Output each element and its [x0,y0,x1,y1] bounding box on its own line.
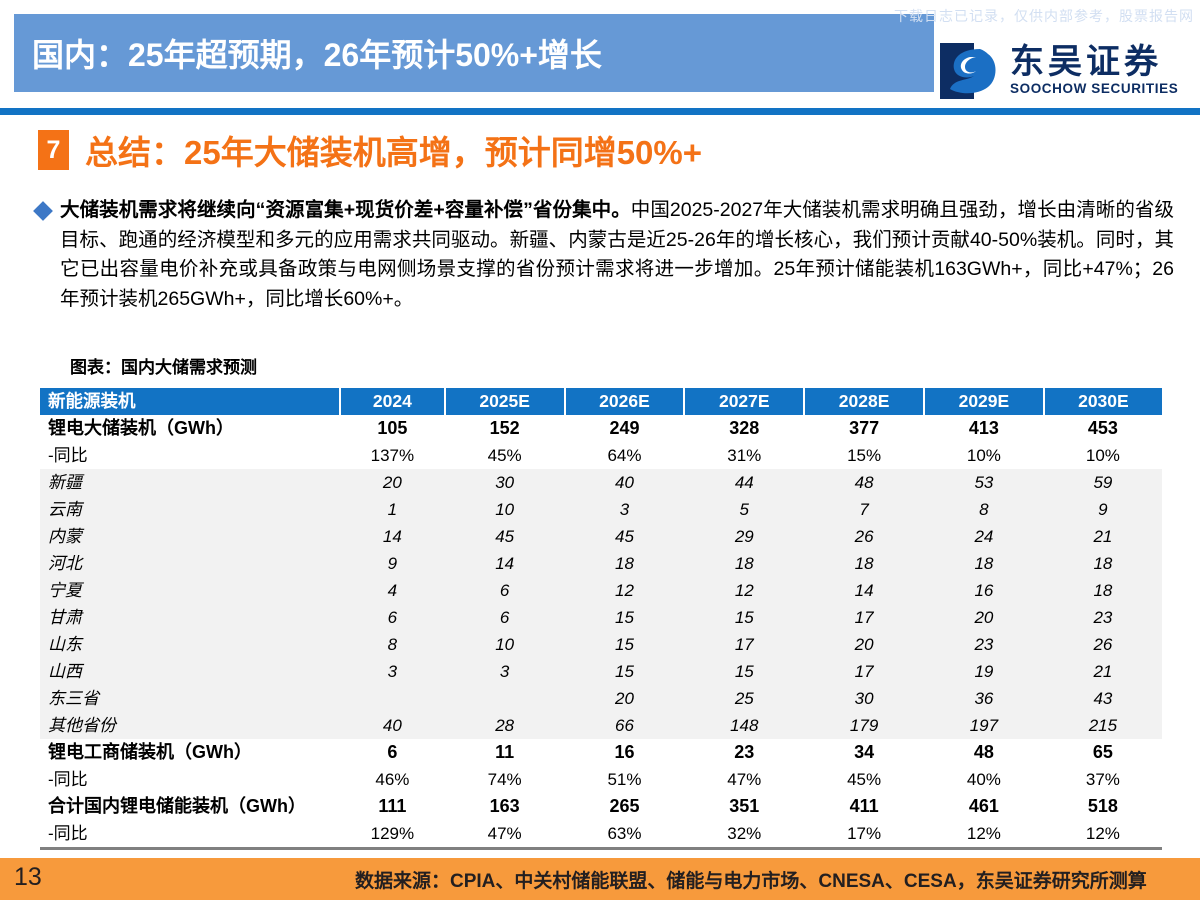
table-cell: 328 [684,415,804,442]
col-header-2030e: 2030E [1044,388,1162,415]
body-lead-sentence: 大储装机需求将继续向“资源富集+现货价差+容量补偿”省份集中。 [60,199,631,221]
table-cell: 461 [924,793,1044,820]
table-cell: 29 [684,523,804,550]
table-row: 河北9141818181818 [40,550,1162,577]
row-label: 山西 [40,658,340,685]
col-header-2026e: 2026E [565,388,685,415]
table-cell: 66 [565,712,685,739]
table-cell: 74% [445,766,565,793]
table-cell: 23 [924,631,1044,658]
table-cell: 46% [340,766,445,793]
table-row: 宁夏461212141618 [40,577,1162,604]
table-cell: 44 [684,469,804,496]
slide-header-bar: 国内：25年超预期，26年预计50%+增长 [14,14,934,92]
table-cell: 3 [340,658,445,685]
table-row: -同比137%45%64%31%15%10%10% [40,442,1162,469]
table-cell: 23 [1044,604,1162,631]
table-cell: 7 [804,496,924,523]
table-body: 锂电大储装机（GWh）105152249328377413453-同比137%4… [40,415,1162,847]
table-row: 合计国内锂电储能装机（GWh）111163265351411461518 [40,793,1162,820]
table-cell: 163 [445,793,565,820]
page-number: 13 [14,863,42,892]
body-paragraph-block: 大储装机需求将继续向“资源富集+现货价差+容量补偿”省份集中。中国2025-20… [36,196,1176,315]
table-cell: 48 [924,739,1044,766]
section-number-badge: 7 [38,130,69,170]
table-cell: 4 [340,577,445,604]
table-row: 新疆20304044485359 [40,469,1162,496]
table-cell: 47% [684,766,804,793]
company-logo: 东吴证券 SOOCHOW SECURITIES [940,38,1190,104]
table-cell: 14 [340,523,445,550]
table-cell: 21 [1044,523,1162,550]
table-cell: 152 [445,415,565,442]
table-cell: 23 [684,739,804,766]
table-cell: 111 [340,793,445,820]
row-label: 其他省份 [40,712,340,739]
table-cell: 40 [340,712,445,739]
table-cell: 12% [924,820,1044,847]
col-header-label: 新能源装机 [40,388,340,415]
table-cell: 18 [565,550,685,577]
row-label: -同比 [40,766,340,793]
row-label: 东三省 [40,685,340,712]
table-row: -同比46%74%51%47%45%40%37% [40,766,1162,793]
col-header-2028e: 2028E [804,388,924,415]
table-cell: 1 [340,496,445,523]
table-cell: 6 [445,577,565,604]
table-cell: 15 [684,658,804,685]
table-cell: 17% [804,820,924,847]
table-cell: 20 [924,604,1044,631]
table-cell: 518 [1044,793,1162,820]
footer-source-text: 数据来源：CPIA、中关村储能联盟、储能与电力市场、CNESA、CESA，东吴证… [355,866,1147,893]
table-cell: 14 [445,550,565,577]
table-cell: 25 [684,685,804,712]
table-cell: 26 [804,523,924,550]
table-cell: 17 [684,631,804,658]
footer-bar: 数据来源：CPIA、中关村储能联盟、储能与电力市场、CNESA、CESA，东吴证… [0,858,1200,900]
table-cell: 15% [804,442,924,469]
col-header-2027e: 2027E [684,388,804,415]
section-title: 总结：25年大储装机高增，预计同增50%+ [85,126,702,174]
table-cell [340,685,445,712]
table-cell: 20 [565,685,685,712]
table-cell: 20 [804,631,924,658]
table-cell: 18 [1044,577,1162,604]
table-cell: 53 [924,469,1044,496]
table-cell: 6 [445,604,565,631]
row-label: 锂电大储装机（GWh） [40,415,340,442]
watermark-text: 下载日志已记录，仅供内部参考，股票报告网 [894,6,1194,26]
diamond-bullet-icon [33,201,53,221]
chart-caption: 图表：国内大储需求预测 [70,353,257,378]
table-row: -同比129%47%63%32%17%12%12% [40,820,1162,847]
table-cell: 10 [445,496,565,523]
table-cell: 47% [445,820,565,847]
table-cell: 45% [445,442,565,469]
table-cell: 21 [1044,658,1162,685]
table-row: 其他省份402866148179197215 [40,712,1162,739]
table-cell: 197 [924,712,1044,739]
table-cell: 17 [804,658,924,685]
table-cell: 9 [1044,496,1162,523]
table-cell: 31% [684,442,804,469]
table-cell: 59 [1044,469,1162,496]
table-cell: 215 [1044,712,1162,739]
table-row: 云南11035789 [40,496,1162,523]
table-row: 锂电大储装机（GWh）105152249328377413453 [40,415,1162,442]
table-cell: 43 [1044,685,1162,712]
header-divider [0,108,1200,115]
table-cell: 15 [565,604,685,631]
row-label: 山东 [40,631,340,658]
body-paragraph: 大储装机需求将继续向“资源富集+现货价差+容量补偿”省份集中。中国2025-20… [60,196,1174,315]
table-cell: 6 [340,604,445,631]
col-header-2029e: 2029E [924,388,1044,415]
table-header: 新能源装机 2024 2025E 2026E 2027E 2028E 2029E… [40,388,1162,415]
row-label: -同比 [40,442,340,469]
col-header-2025e: 2025E [445,388,565,415]
table-bottom-rule [40,847,1162,850]
table-cell: 63% [565,820,685,847]
table-cell: 16 [565,739,685,766]
table-cell: 28 [445,712,565,739]
table-cell: 453 [1044,415,1162,442]
table-cell: 18 [684,550,804,577]
row-label: 新疆 [40,469,340,496]
table-row: 甘肃661515172023 [40,604,1162,631]
table-cell: 10% [1044,442,1162,469]
soochow-logo-icon [940,43,1002,99]
table-cell: 11 [445,739,565,766]
table-cell: 18 [924,550,1044,577]
table-cell: 19 [924,658,1044,685]
table-cell: 411 [804,793,924,820]
table-cell: 105 [340,415,445,442]
table-cell: 65 [1044,739,1162,766]
table-cell: 265 [565,793,685,820]
table-cell: 12 [684,577,804,604]
table-cell: 20 [340,469,445,496]
table-cell: 45 [445,523,565,550]
table-cell: 148 [684,712,804,739]
table-cell: 5 [684,496,804,523]
table-cell: 16 [924,577,1044,604]
row-label: 云南 [40,496,340,523]
forecast-table: 新能源装机 2024 2025E 2026E 2027E 2028E 2029E… [40,388,1162,847]
table-cell: 15 [565,658,685,685]
table-cell: 10% [924,442,1044,469]
table-cell: 9 [340,550,445,577]
table-cell: 137% [340,442,445,469]
table-cell: 15 [565,631,685,658]
table-cell: 51% [565,766,685,793]
table-cell: 3 [565,496,685,523]
table-row: 内蒙14454529262421 [40,523,1162,550]
table-cell: 37% [1044,766,1162,793]
table-cell: 179 [804,712,924,739]
table-cell: 377 [804,415,924,442]
table-cell: 249 [565,415,685,442]
table-cell: 48 [804,469,924,496]
table-cell: 18 [804,550,924,577]
row-label: 宁夏 [40,577,340,604]
table-cell: 351 [684,793,804,820]
table-cell: 24 [924,523,1044,550]
table-cell: 18 [1044,550,1162,577]
table-cell: 45 [565,523,685,550]
table-cell: 12 [565,577,685,604]
table-cell: 3 [445,658,565,685]
table-cell: 26 [1044,631,1162,658]
row-label: 河北 [40,550,340,577]
row-label: -同比 [40,820,340,847]
table-cell: 64% [565,442,685,469]
table-cell: 129% [340,820,445,847]
table-cell: 14 [804,577,924,604]
table-row: 锂电工商储装机（GWh）6111623344865 [40,739,1162,766]
slide-page: 下载日志已记录，仅供内部参考，股票报告网 国内：25年超预期，26年预计50%+… [0,0,1200,900]
logo-text: 东吴证券 SOOCHOW SECURITIES [1010,45,1178,97]
table-cell: 34 [804,739,924,766]
forecast-table-wrap: 新能源装机 2024 2025E 2026E 2027E 2028E 2029E… [40,388,1162,850]
table-cell: 40 [565,469,685,496]
table-cell: 10 [445,631,565,658]
table-cell: 32% [684,820,804,847]
table-cell: 12% [1044,820,1162,847]
table-row: 山东8101517202326 [40,631,1162,658]
table-cell: 40% [924,766,1044,793]
table-row: 东三省2025303643 [40,685,1162,712]
table-cell: 30 [804,685,924,712]
row-label: 内蒙 [40,523,340,550]
logo-english-name: SOOCHOW SECURITIES [1010,82,1178,97]
table-cell: 413 [924,415,1044,442]
logo-chinese-name: 东吴证券 [1010,45,1178,81]
row-label: 合计国内锂电储能装机（GWh） [40,793,340,820]
table-cell: 6 [340,739,445,766]
row-label: 甘肃 [40,604,340,631]
table-cell: 17 [804,604,924,631]
table-cell: 8 [340,631,445,658]
row-label: 锂电工商储装机（GWh） [40,739,340,766]
section-heading: 7 总结：25年大储装机高增，预计同增50%+ [38,126,702,174]
table-cell [445,685,565,712]
table-cell: 8 [924,496,1044,523]
table-header-row: 新能源装机 2024 2025E 2026E 2027E 2028E 2029E… [40,388,1162,415]
table-cell: 45% [804,766,924,793]
table-cell: 15 [684,604,804,631]
page-title: 国内：25年超预期，26年预计50%+增长 [14,30,602,76]
col-header-2024: 2024 [340,388,445,415]
table-row: 山西331515171921 [40,658,1162,685]
table-cell: 36 [924,685,1044,712]
table-cell: 30 [445,469,565,496]
